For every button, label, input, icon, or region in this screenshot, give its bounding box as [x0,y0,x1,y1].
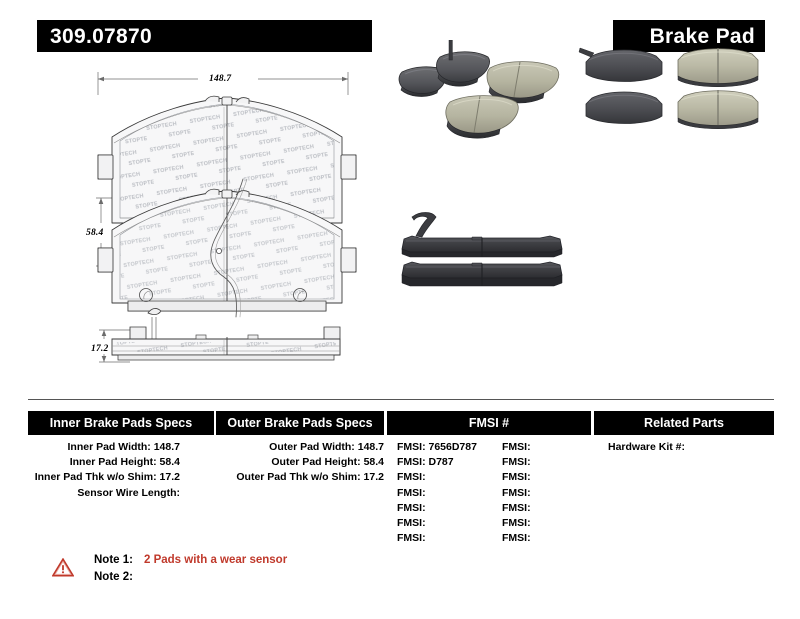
related-part-row: Hardware Kit #: [594,440,774,455]
fmsi-row: FMSI: [489,516,591,531]
table-divider [385,411,386,571]
spec-row: Inner Pad Height: 58.4 [28,455,214,470]
part-number-banner: 309.07870 [37,20,372,52]
table-header-related-label: Related Parts [644,416,724,430]
table-header-inner-label: Inner Brake Pads Specs [50,416,192,430]
spec-row: Outer Pad Height: 58.4 [216,455,384,470]
photo-flat-two-pairs [578,40,768,140]
table-header-fmsi-label: FMSI # [469,416,509,430]
fmsi-row: FMSI: 7656D787 [387,440,489,455]
spec-row: Sensor Wire Length: [28,486,214,501]
table-header-fmsi: FMSI # [387,411,591,435]
note-2-label: Note 2: [94,571,144,583]
table-header-related-parts: Related Parts [594,411,774,435]
fmsi-row: FMSI: [489,486,591,501]
note-1-row: Note 1: 2 Pads with a wear sensor [94,554,287,571]
spec-row: Inner Pad Thk w/o Shim: 17.2 [28,470,214,485]
pad-photo-item [446,96,518,139]
spec-row: Inner Pad Width: 148.7 [28,440,214,455]
spec-sheet: 309.07870 Brake Pad STOPTECH STOPTECH ST… [0,0,800,619]
table-header-inner-specs: Inner Brake Pads Specs [28,411,214,435]
table-header-outer-specs: Outer Brake Pads Specs [216,411,384,435]
fmsi-row: FMSI: [387,470,489,485]
fmsi-row: FMSI: [387,501,489,516]
pad-photo-item [579,48,662,82]
dimension-label-height: 58.4 [86,228,103,238]
part-number: 309.07870 [50,26,152,47]
fmsi-row: FMSI: [489,470,591,485]
pad-photo-item [402,236,562,257]
outer-specs-column: Outer Pad Width: 148.7 Outer Pad Height:… [216,440,384,486]
note-1-value: 2 Pads with a wear sensor [144,554,287,566]
table-header-outer-label: Outer Brake Pads Specs [227,416,372,430]
fmsi-subcolumn-left: FMSI: 7656D787 FMSI: D787 FMSI: FMSI: FM… [387,440,489,546]
fmsi-row: FMSI: [489,501,591,516]
fmsi-row: FMSI: [387,516,489,531]
spec-row: Outer Pad Thk w/o Shim: 17.2 [216,470,384,485]
dimension-label-thickness: 17.2 [91,344,108,354]
fmsi-column: FMSI: 7656D787 FMSI: D787 FMSI: FMSI: FM… [387,440,591,546]
fmsi-row: FMSI: [489,440,591,455]
note-1-label: Note 1: [94,554,144,566]
pad-photo-item [436,40,489,86]
related-parts-column: Hardware Kit #: [594,440,774,455]
table-divider [592,411,593,571]
photo-edge-stacked [390,205,580,305]
fmsi-row: FMSI: [387,531,489,546]
pad-photo-item [678,90,758,129]
warning-triangle-icon [52,558,74,577]
fmsi-row: FMSI: [489,531,591,546]
spec-row: Outer Pad Width: 148.7 [216,440,384,455]
table-top-rule [28,399,774,400]
note-2-row: Note 2: [94,571,144,588]
dimension-label-width: 148.7 [209,74,231,84]
fmsi-subcolumn-right: FMSI: FMSI: FMSI: FMSI: FMSI: FMSI: FMSI… [489,440,591,546]
sensor-wire-bracket [412,213,436,238]
inner-specs-column: Inner Pad Width: 148.7 Inner Pad Height:… [28,440,214,501]
fmsi-row: FMSI: [387,486,489,501]
pad-photo-item [586,92,662,124]
photo-angled-four-pads [392,40,572,140]
fmsi-row: FMSI: D787 [387,455,489,470]
pad-photo-item [678,48,758,87]
pad-photo-item [402,262,562,286]
fmsi-row: FMSI: [489,455,591,470]
pad-edge-thickness-view [112,308,340,360]
